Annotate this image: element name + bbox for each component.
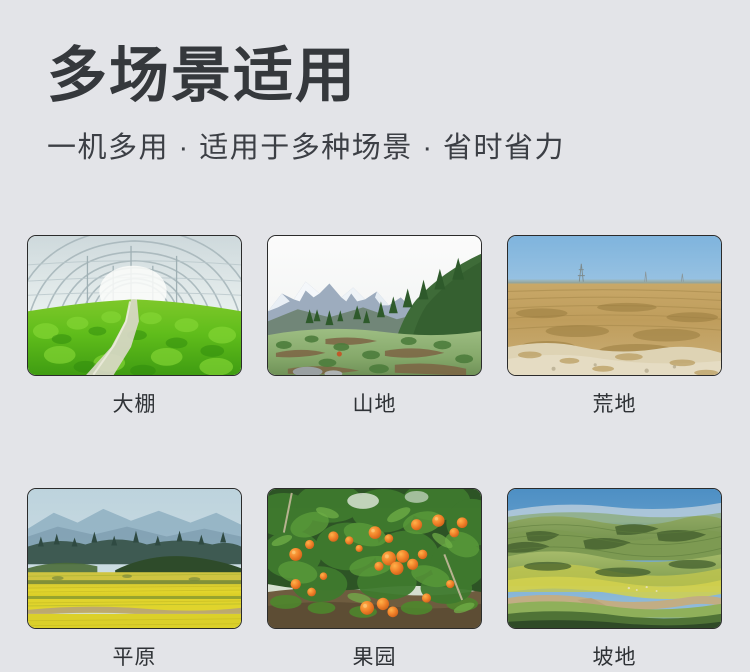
greenhouse-interior-icon <box>28 236 241 376</box>
scene-label: 荒地 <box>507 392 722 417</box>
citrus-orchard-icon <box>268 489 481 629</box>
plain-rapeseed-field-icon <box>28 489 241 629</box>
scene-label: 果园 <box>267 645 482 670</box>
page-subtitle: 一机多用 · 适用于多种场景 · 省时省力 <box>47 131 750 166</box>
scene-thumbnail[interactable] <box>27 488 242 629</box>
scene-label: 平原 <box>27 645 242 670</box>
scene-thumbnail[interactable] <box>267 235 482 376</box>
scene-card-orchard[interactable]: 果园 <box>267 488 482 670</box>
scene-card-plain[interactable]: 平原 <box>27 488 242 670</box>
rolling-hillside-icon <box>508 489 721 629</box>
mountain-slope-icon <box>268 236 481 376</box>
scene-thumbnail[interactable] <box>267 488 482 629</box>
scene-label: 大棚 <box>27 392 242 417</box>
scene-card-wasteland[interactable]: 荒地 <box>507 235 722 417</box>
scene-label: 山地 <box>267 392 482 417</box>
page-header: 多场景适用 一机多用 · 适用于多种场景 · 省时省力 <box>0 0 750 166</box>
scene-thumbnail[interactable] <box>507 235 722 376</box>
scene-card-greenhouse[interactable]: 大棚 <box>27 235 242 417</box>
scene-grid: 大棚 <box>27 235 723 670</box>
scene-thumbnail[interactable] <box>27 235 242 376</box>
page-title: 多场景适用 <box>47 44 750 109</box>
scene-label: 坡地 <box>507 645 722 670</box>
scene-thumbnail[interactable] <box>507 488 722 629</box>
scene-card-slopeland[interactable]: 坡地 <box>507 488 722 670</box>
barren-wasteland-icon <box>508 236 721 376</box>
scene-card-mountain[interactable]: 山地 <box>267 235 482 417</box>
scenario-showcase-page: 多场景适用 一机多用 · 适用于多种场景 · 省时省力 <box>0 0 750 672</box>
